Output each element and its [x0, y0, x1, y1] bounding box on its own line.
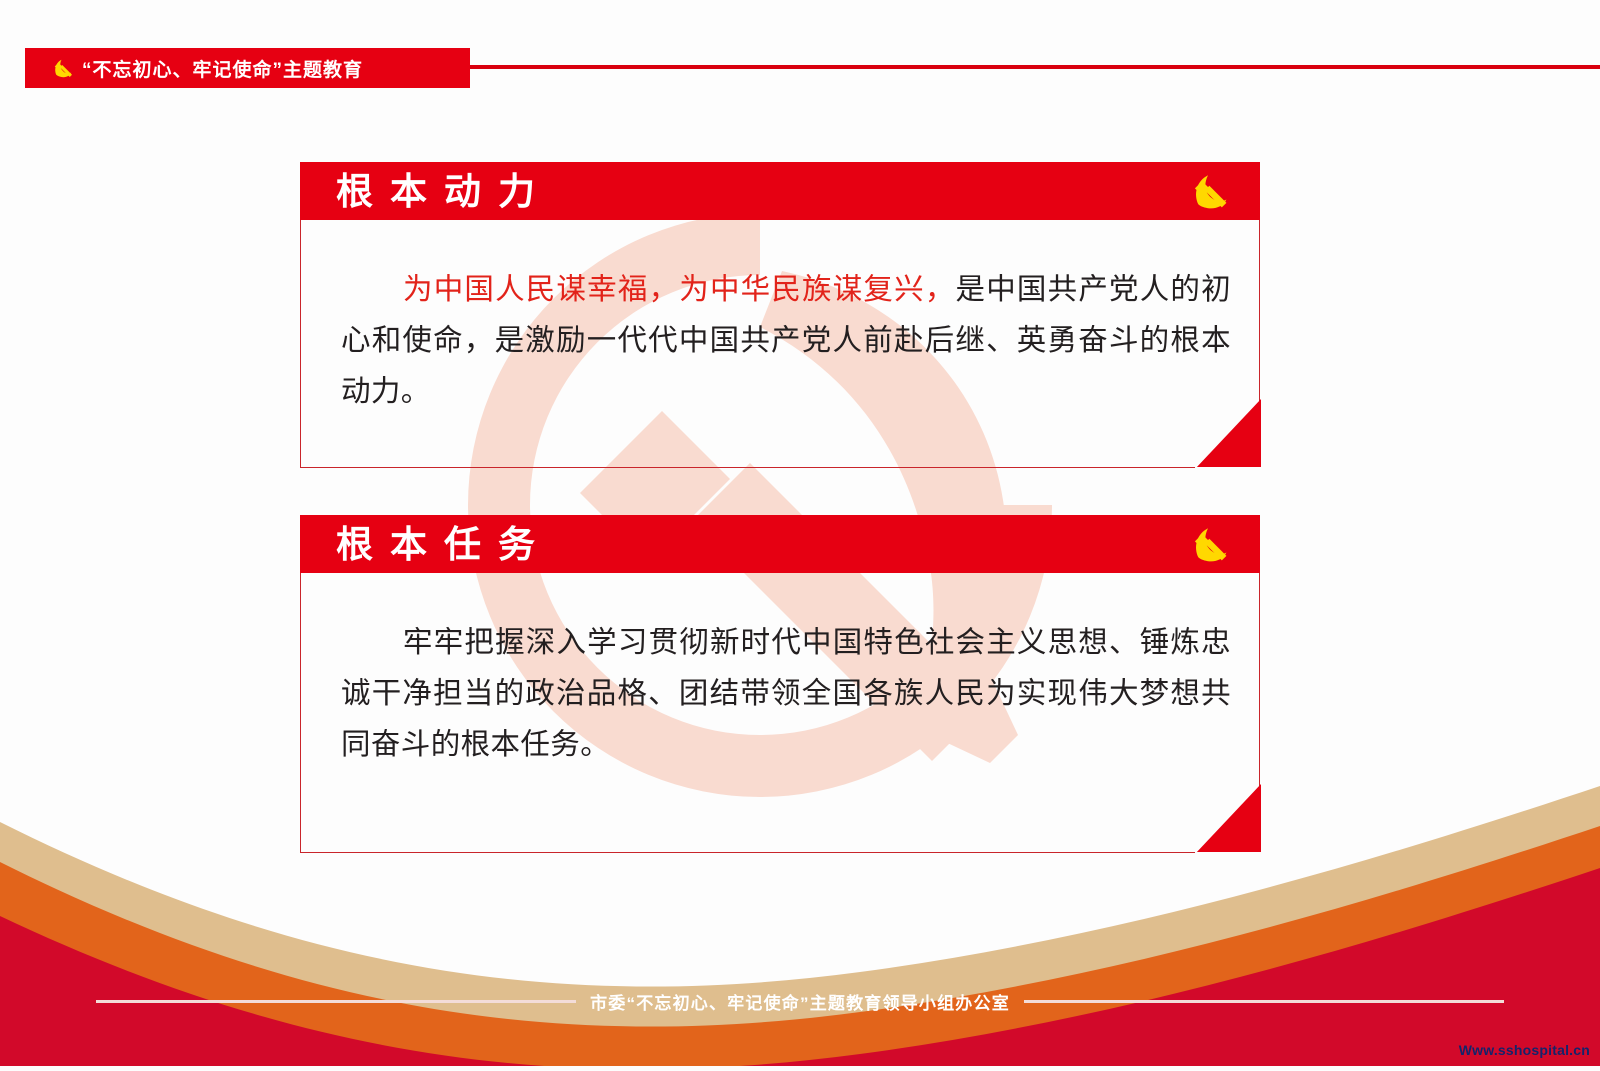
footer-text: 市委“不忘初心、牢记使命”主题教育领导小组办公室 — [590, 989, 1010, 1014]
corner-fold-decoration — [1195, 399, 1261, 469]
highlighted-phrase: 为中国人民谋幸福，为中华民族谋复兴， — [403, 273, 956, 306]
card-root-motivation: 根本动力 为中国人民谋幸福，为中华民族谋复兴，是中国共产党人的初心和使命，是激励… — [300, 162, 1260, 468]
card-paragraph: 牢牢把握深入学习贯彻新时代中国特色社会主义思想、锤炼忠诚干净担当的政治品格、团结… — [301, 573, 1259, 770]
hammer-sickle-icon — [51, 56, 75, 80]
decorative-wave-band — [0, 786, 1600, 1066]
site-watermark-url: Www.sshospital.cn — [1459, 1042, 1590, 1058]
card-paragraph: 为中国人民谋幸福，为中华民族谋复兴，是中国共产党人的初心和使命，是激励一代代中国… — [301, 220, 1259, 417]
card-banner: 根本动力 — [300, 162, 1260, 220]
card-title: 根本任务 — [336, 526, 552, 563]
header-title: “不忘初心、牢记使命”主题教育 — [82, 55, 363, 82]
hammer-sickle-icon — [1188, 170, 1232, 212]
footer-rule-left — [96, 1000, 576, 1003]
header-rule — [468, 65, 1600, 69]
hammer-sickle-icon — [1188, 523, 1232, 565]
footer-rule-right — [1024, 1000, 1504, 1003]
card-body-text: 牢牢把握深入学习贯彻新时代中国特色社会主义思想、锤炼忠诚干净担当的政治品格、团结… — [341, 626, 1231, 761]
card-body: 为中国人民谋幸福，为中华民族谋复兴，是中国共产党人的初心和使命，是激励一代代中国… — [300, 220, 1260, 468]
card-banner: 根本任务 — [300, 515, 1260, 573]
header-bar: “不忘初心、牢记使命”主题教育 — [25, 48, 470, 88]
card-title: 根本动力 — [336, 173, 552, 210]
footer: 市委“不忘初心、牢记使命”主题教育领导小组办公室 — [0, 989, 1600, 1014]
